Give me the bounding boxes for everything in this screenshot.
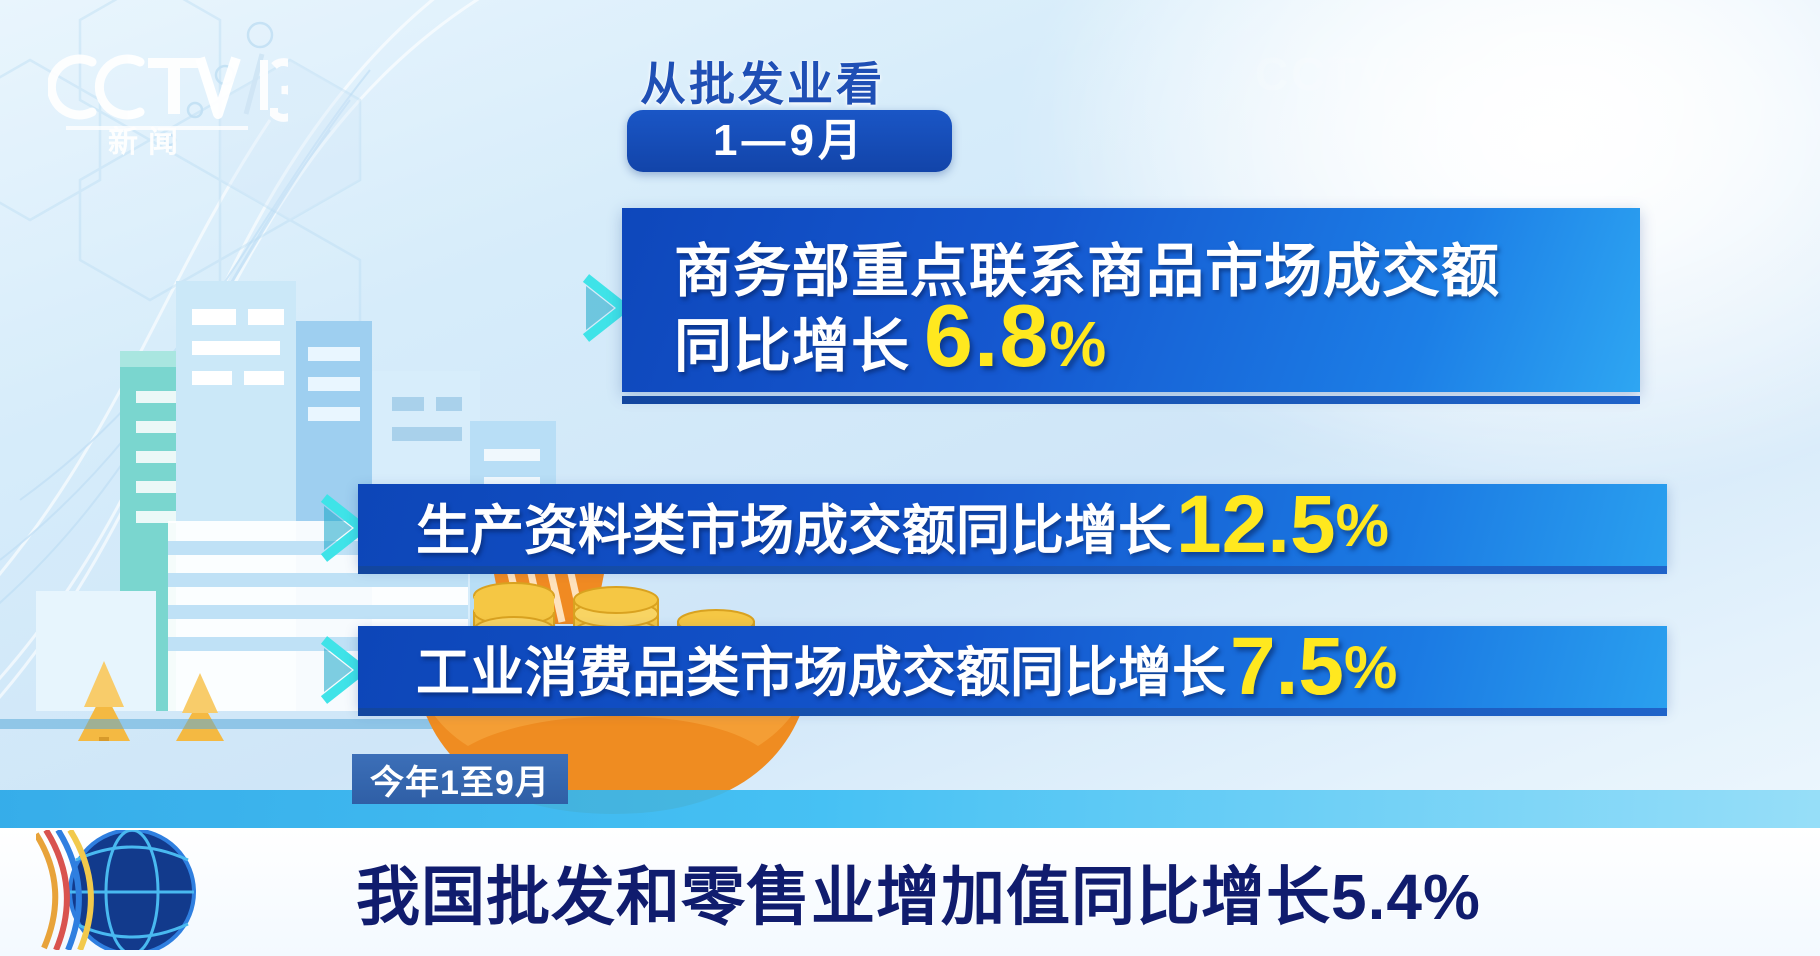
ticker-cyan-strip	[0, 790, 1820, 828]
cctv-watermark: CCTV13	[1255, 44, 1555, 104]
svg-text:新闻: 新闻	[108, 126, 188, 156]
main-stat-prefix: 同比增长	[674, 299, 910, 383]
stat-bar-unit: %	[1336, 491, 1389, 560]
period-badge: 1—9月	[627, 110, 952, 172]
stat-bar-row: 生产资料类市场成交额同比增长 12.5 %	[358, 484, 1667, 566]
stat-bar-label: 工业消费品类市场成交额同比增长	[416, 628, 1226, 707]
main-stat-line2: 同比增长 6.8 %	[674, 296, 1107, 383]
svg-text:CCTV13: CCTV13	[1255, 48, 1449, 100]
stat-bar-value: 12.5	[1176, 488, 1336, 562]
main-panel-underline	[622, 396, 1640, 404]
broadcast-graphic: CCTV13	[0, 0, 1820, 956]
stat-bar-underline	[358, 566, 1667, 574]
ticker-tag-label: 今年1至9月	[370, 755, 550, 804]
stat-bar-underline	[358, 708, 1667, 716]
ticker-tag: 今年1至9月	[352, 754, 568, 804]
kicker-text: 从批发业看	[640, 48, 885, 114]
main-stat-value: 6.8	[924, 296, 1049, 375]
cctv13-channel-logo: 新闻	[48, 36, 288, 156]
main-stat-panel: 商务部重点联系商品市场成交额 同比增长 6.8 %	[622, 208, 1640, 392]
stat-bar-label: 生产资料类市场成交额同比增长	[416, 486, 1172, 565]
stat-bar-unit: %	[1344, 633, 1397, 702]
stat-bar-value: 7.5	[1230, 630, 1344, 704]
main-stat-unit: %	[1049, 307, 1107, 381]
ticker-headline: 我国批发和零售业增加值同比增长5.4%	[356, 846, 1481, 938]
ticker-globe-graphic	[36, 830, 236, 950]
period-badge-label: 1—9月	[713, 119, 866, 163]
stat-bar-row: 工业消费品类市场成交额同比增长 7.5 %	[358, 626, 1667, 708]
